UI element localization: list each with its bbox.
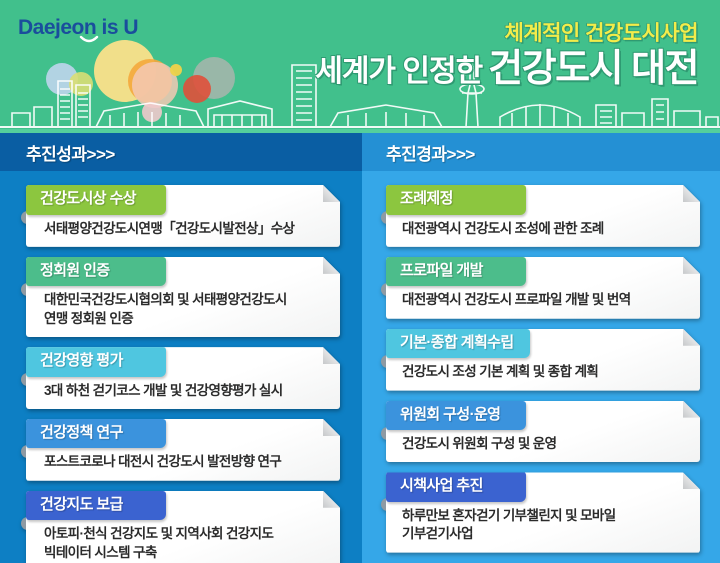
- card-label: 조례제정: [386, 185, 526, 215]
- card[interactable]: 조례제정 대전광역시 건강도시 조성에 관한 조례: [386, 185, 700, 247]
- card-label: 정회원 인증: [26, 257, 166, 287]
- card-sheet: 기본·종합 계획수립 건강도시 조성 기본 계획 및 종합 계획: [386, 329, 700, 391]
- progress-card-list: 조례제정 대전광역시 건강도시 조성에 관한 조례 프로파일 개발 대전광역시 …: [362, 171, 720, 553]
- card-sheet: 건강정책 연구 포스트코로나 대전시 건강도시 발전방향 연구: [26, 419, 340, 481]
- card[interactable]: 기본·종합 계획수립 건강도시 조성 기본 계획 및 종합 계획: [386, 329, 700, 391]
- card[interactable]: 정회원 인증 대한민국건강도시협의회 및 서태평양건강도시 연맹 정회원 인증: [26, 257, 340, 337]
- card-label: 건강도시상 수상: [26, 185, 166, 215]
- card-sheet: 건강지도 보급 아토피·천식 건강지도 및 지역사회 건강지도 빅테이터 시스템…: [26, 491, 340, 563]
- card[interactable]: 프로파일 개발 대전광역시 건강도시 프로파일 개발 및 번역: [386, 257, 700, 319]
- card[interactable]: 건강영향 평가 3대 하천 걷기코스 개발 및 건강영향평가 실시: [26, 347, 340, 409]
- column-progress-heading: 추진경과>>>: [386, 140, 475, 165]
- card-sheet: 위원회 구성·운영 건강도시 위원회 구성 및 운영: [386, 401, 700, 463]
- page-fold-corner-icon: [323, 257, 340, 274]
- card[interactable]: 건강도시상 수상 서태평양건강도시연맹「건강도시발전상」수상: [26, 185, 340, 247]
- card-sheet: 시책사업 추진 하루만보 혼자걷기 기부챌린지 및 모바일 기부걷기사업: [386, 472, 700, 552]
- column-achievements-heading: 추진성과>>>: [26, 140, 115, 165]
- page-fold-corner-icon: [323, 419, 340, 436]
- page-fold-corner-icon: [323, 347, 340, 364]
- card-description: 하루만보 혼자걷기 기부챌린지 및 모바일 기부걷기사업: [386, 502, 700, 553]
- card-label: 기본·종합 계획수립: [386, 329, 530, 359]
- card-label: 위원회 구성·운영: [386, 401, 526, 431]
- card-sheet: 건강도시상 수상 서태평양건강도시연맹「건강도시발전상」수상: [26, 185, 340, 247]
- infographic-root: Daejeon is U 체계적인 건강도시사업 세계가 인정한건강도시 대전 …: [0, 0, 720, 563]
- header-title-small: 세계가 인정한: [315, 55, 482, 88]
- page-fold-corner-icon: [323, 185, 340, 202]
- page-header: Daejeon is U 체계적인 건강도시사업 세계가 인정한건강도시 대전: [0, 0, 720, 133]
- card-label: 건강영향 평가: [26, 347, 166, 377]
- card-description: 아토피·천식 건강지도 및 지역사회 건강지도 빅테이터 시스템 구축: [26, 520, 340, 563]
- card-label: 프로파일 개발: [386, 257, 526, 287]
- header-title-big: 건강도시 대전: [488, 48, 698, 90]
- card[interactable]: 위원회 구성·운영 건강도시 위원회 구성 및 운영: [386, 401, 700, 463]
- card-description: 대전광역시 건강도시 조성에 관한 조례: [386, 215, 700, 247]
- card-description: 3대 하천 걷기코스 개발 및 건강영향평가 실시: [26, 377, 340, 409]
- page-fold-corner-icon: [683, 257, 700, 274]
- achievement-card-list: 건강도시상 수상 서태평양건강도시연맹「건강도시발전상」수상 정회원 인증 대한…: [0, 171, 362, 563]
- card-sheet: 조례제정 대전광역시 건강도시 조성에 관한 조례: [386, 185, 700, 247]
- card[interactable]: 시책사업 추진 하루만보 혼자걷기 기부챌린지 및 모바일 기부걷기사업: [386, 472, 700, 552]
- card-sheet: 건강영향 평가 3대 하천 걷기코스 개발 및 건강영향평가 실시: [26, 347, 340, 409]
- card-description: 포스트코로나 대전시 건강도시 발전방향 연구: [26, 448, 340, 480]
- card-description: 건강도시 조성 기본 계획 및 종합 계획: [386, 358, 700, 390]
- card[interactable]: 건강지도 보급 아토피·천식 건강지도 및 지역사회 건강지도 빅테이터 시스템…: [26, 491, 340, 563]
- page-fold-corner-icon: [683, 329, 700, 346]
- header-title-block: 체계적인 건강도시사업 세계가 인정한건강도시 대전: [315, 22, 698, 90]
- column-achievements: 추진성과>>> 건강도시상 수상 서태평양건강도시연맹「건강도시발전상」수상 정…: [0, 133, 362, 563]
- card-label: 시책사업 추진: [386, 472, 526, 502]
- header-title-line: 세계가 인정한건강도시 대전: [315, 49, 698, 90]
- page-fold-corner-icon: [323, 491, 340, 508]
- content-columns: 추진성과>>> 건강도시상 수상 서태평양건강도시연맹「건강도시발전상」수상 정…: [0, 133, 720, 563]
- header-subtitle: 체계적인 건강도시사업: [315, 22, 698, 45]
- daejeon-logo: Daejeon is U: [18, 12, 178, 46]
- card-description: 대한민국건강도시협의회 및 서태평양건강도시 연맹 정회원 인증: [26, 286, 340, 337]
- card-label: 건강지도 보급: [26, 491, 166, 521]
- page-fold-corner-icon: [683, 185, 700, 202]
- column-progress-header: 추진경과>>>: [362, 133, 720, 171]
- card-sheet: 정회원 인증 대한민국건강도시협의회 및 서태평양건강도시 연맹 정회원 인증: [26, 257, 340, 337]
- card-description: 대전광역시 건강도시 프로파일 개발 및 번역: [386, 286, 700, 318]
- column-progress: 추진경과>>> 조례제정 대전광역시 건강도시 조성에 관한 조례 프로파일 개…: [362, 133, 720, 563]
- card-label: 건강정책 연구: [26, 419, 166, 449]
- card[interactable]: 건강정책 연구 포스트코로나 대전시 건강도시 발전방향 연구: [26, 419, 340, 481]
- card-description: 서태평양건강도시연맹「건강도시발전상」수상: [26, 215, 340, 247]
- card-description: 건강도시 위원회 구성 및 운영: [386, 430, 700, 462]
- column-achievements-header: 추진성과>>>: [0, 133, 362, 171]
- logo-text: Daejeon is U: [18, 16, 138, 39]
- card-sheet: 프로파일 개발 대전광역시 건강도시 프로파일 개발 및 번역: [386, 257, 700, 319]
- page-fold-corner-icon: [683, 401, 700, 418]
- page-fold-corner-icon: [683, 472, 700, 489]
